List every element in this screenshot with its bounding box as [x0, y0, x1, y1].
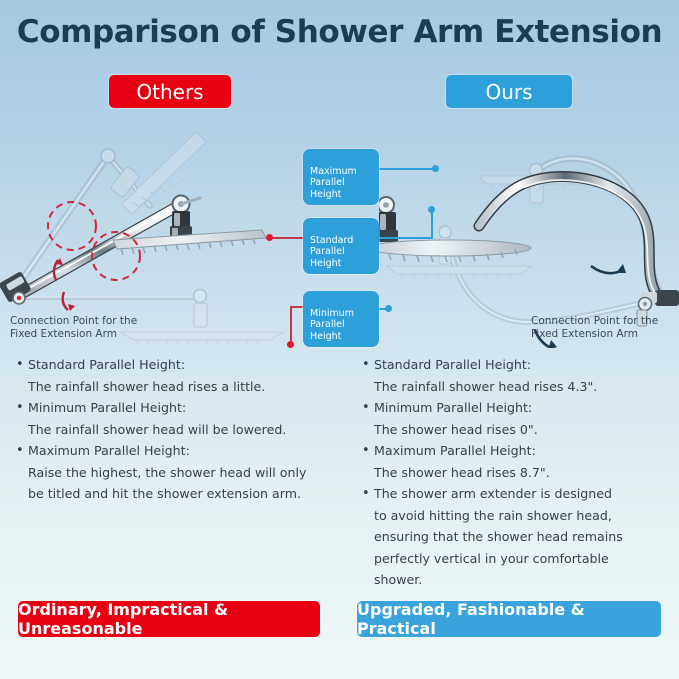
- ours-gooseneck-arm-diagram: [379, 108, 679, 348]
- banner-ours-label: Upgraded, Fashionable & Practical: [357, 600, 661, 638]
- bullet-glyph: •: [16, 440, 28, 462]
- list-item: • Minimum Parallel Height:: [16, 397, 346, 419]
- bullet-glyph: •: [362, 440, 374, 462]
- badge-others: Others: [109, 75, 231, 108]
- list-item-detail: The rainfall shower head rises 4.3".: [362, 376, 672, 398]
- list-item-detail: The rainfall shower head rises a little.: [16, 376, 346, 398]
- ours-feature-list: • Standard Parallel Height: The rainfall…: [362, 354, 672, 591]
- list-item: • Maximum Parallel Height:: [362, 440, 672, 462]
- callout-standard-parallel-height: Standard Parallel Height: [303, 218, 379, 274]
- connector-line-minimum-red-h: [290, 306, 304, 308]
- badge-ours: Ours: [446, 75, 572, 108]
- bullet-glyph: •: [16, 354, 28, 376]
- bullet-glyph: •: [362, 483, 374, 505]
- main-gooseneck-arm: [479, 176, 659, 298]
- callout-standard-label: Standard Parallel Height: [310, 235, 353, 269]
- list-item: • The shower arm extender is designed to…: [362, 483, 672, 591]
- banner-others-label: Ordinary, Impractical & Unreasonable: [18, 600, 320, 638]
- banner-others-verdict: Ordinary, Impractical & Unreasonable: [18, 601, 320, 637]
- bullet-glyph: •: [16, 397, 28, 419]
- list-item-heading: Maximum Parallel Height:: [28, 440, 346, 462]
- list-item-detail: The rainfall shower head will be lowered…: [16, 419, 346, 441]
- connector-line-minimum-red-v: [290, 306, 292, 344]
- shower-head-joint-right: [379, 197, 398, 242]
- infographic-canvas: Comparison of Shower Arm Extension Other…: [0, 0, 679, 679]
- connector-line-standard-blue-v: [431, 210, 433, 239]
- callout-minimum-label: Minimum Parallel Height: [310, 308, 354, 342]
- connector-line-standard-red: [272, 237, 304, 239]
- shower-head-joint-left: [170, 196, 200, 239]
- bullet-glyph: •: [362, 397, 374, 419]
- list-item-heading: Minimum Parallel Height:: [374, 397, 672, 419]
- connector-dot-standard-red: [266, 234, 273, 241]
- connector-dot-standard-blue: [428, 206, 435, 213]
- list-item: • Standard Parallel Height:: [362, 354, 672, 376]
- list-item-heading: Standard Parallel Height:: [374, 354, 672, 376]
- callout-maximum-parallel-height: Maximum Parallel Height: [303, 149, 379, 205]
- list-item: • Maximum Parallel Height:: [16, 440, 346, 462]
- page-title: Comparison of Shower Arm Extension: [0, 14, 679, 50]
- callout-maximum-label: Maximum Parallel Height: [310, 166, 357, 200]
- list-item-heading: Maximum Parallel Height:: [374, 440, 672, 462]
- connection-point-caption-left: Connection Point for the Fixed Extension…: [10, 315, 137, 341]
- bullet-glyph: •: [362, 354, 374, 376]
- connector-dot-maximum-blue: [432, 165, 439, 172]
- list-item-detail: Raise the highest, the shower head will …: [16, 462, 346, 505]
- list-item-detail: The shower head rises 8.7".: [362, 462, 672, 484]
- list-item: • Standard Parallel Height:: [16, 354, 346, 376]
- list-item-heading: Minimum Parallel Height:: [28, 397, 346, 419]
- banner-ours-verdict: Upgraded, Fashionable & Practical: [357, 601, 661, 637]
- connector-dot-minimum-blue: [385, 305, 392, 312]
- badge-ours-label: Ours: [485, 80, 532, 104]
- callout-minimum-parallel-height: Minimum Parallel Height: [303, 291, 379, 347]
- connection-point-caption-right: Connection Point for the Fixed Extension…: [531, 315, 658, 341]
- others-straight-arm-diagram: [0, 108, 310, 348]
- connector-dot-minimum-red: [287, 341, 294, 348]
- list-item-detail: The shower arm extender is designed to a…: [374, 483, 672, 591]
- list-item: • Minimum Parallel Height:: [362, 397, 672, 419]
- list-item-heading: Standard Parallel Height:: [28, 354, 346, 376]
- others-feature-list: • Standard Parallel Height: The rainfall…: [16, 354, 346, 505]
- list-item-detail: The shower head rises 0".: [362, 419, 672, 441]
- badge-others-label: Others: [136, 80, 203, 104]
